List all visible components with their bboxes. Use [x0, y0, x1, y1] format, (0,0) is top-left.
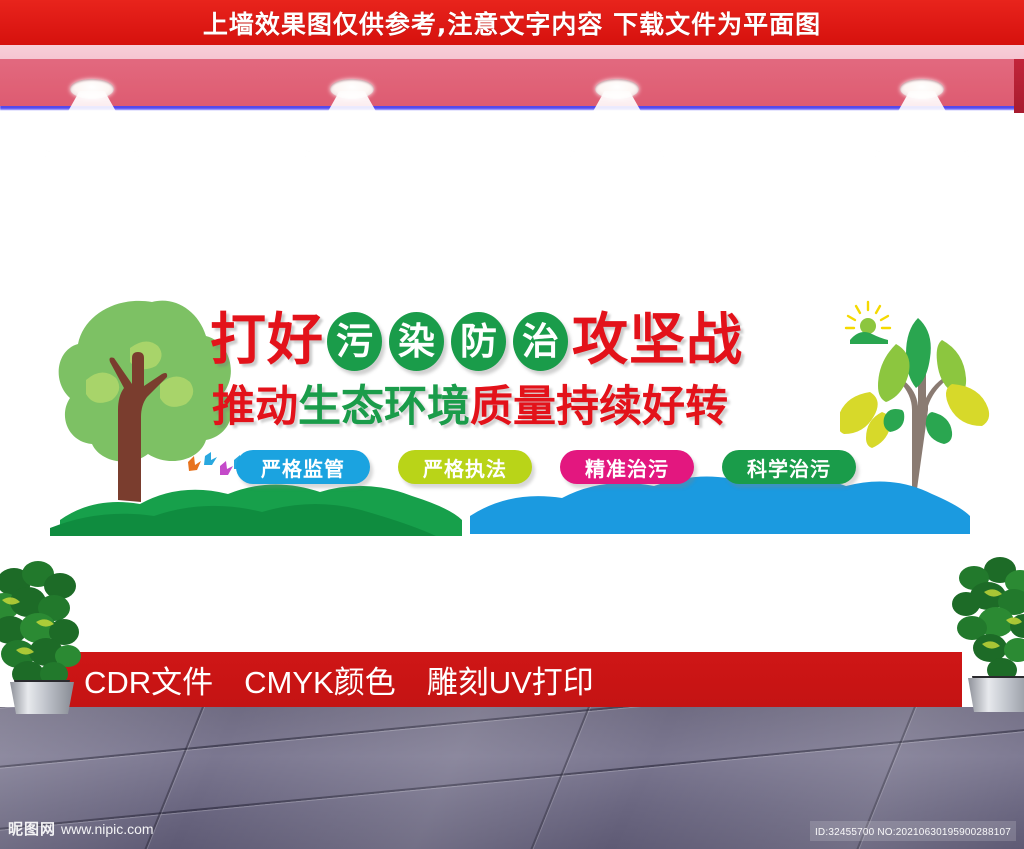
slogan-pill-label-4: 科学治污 — [747, 453, 831, 482]
slogan-pill-row: 严格监管 严格执法 精准治污 科学治污 — [236, 450, 906, 486]
headline-char-3: 攻 — [572, 313, 628, 369]
butterfly-2 — [204, 452, 217, 465]
butterfly-1 — [188, 456, 201, 471]
top-notice-banner: 上墙效果图仅供参考,注意文字内容 下载文件为平面图 — [0, 0, 1024, 45]
slogan-pill-4: 科学治污 — [722, 450, 856, 484]
headline-circle-char-1: 污 — [336, 323, 373, 360]
screenshot-root: 上墙效果图仅供参考,注意文字内容 下载文件为平面图 — [0, 0, 1024, 849]
potted-plant-right — [944, 548, 1024, 716]
headline-circle-4: 治 — [513, 312, 568, 371]
tree-canopy — [59, 301, 232, 462]
headline-char-4: 坚 — [629, 313, 685, 369]
slogan-pill-2: 严格执法 — [398, 450, 532, 484]
potted-plant-left — [0, 556, 94, 716]
headline-char-5: 战 — [686, 313, 742, 369]
slogan-pill-label-2: 严格执法 — [423, 453, 507, 482]
headline-char-1: 打 — [210, 313, 266, 369]
headline-circle-char-4: 治 — [522, 323, 559, 360]
headline-circle-1: 污 — [327, 312, 382, 371]
watermark-left: 昵图网 www.nipic.com — [8, 818, 154, 839]
ceiling-trim — [0, 45, 1024, 59]
subline-segment-1: 推动 — [212, 386, 298, 429]
top-notice-text: 上墙效果图仅供参考,注意文字内容 下载文件为平面图 — [203, 5, 821, 41]
ceiling-panel — [0, 59, 1024, 106]
plant-pot-left — [10, 682, 74, 714]
slogan-pill-label-3: 精准治污 — [585, 453, 669, 482]
bottom-spec-banner: CDR文件 CMYK颜色 雕刻UV打印 — [62, 652, 962, 707]
bottom-spec-text: CDR文件 CMYK颜色 雕刻UV打印 — [84, 657, 594, 702]
headline-char-2: 好 — [267, 313, 323, 369]
headline-circle-char-2: 染 — [398, 323, 435, 360]
butterfly-3 — [220, 461, 233, 475]
sapling-leaf-inner-right — [926, 412, 952, 444]
subline-row: 推动 生态环境 质量持续好转 — [212, 382, 912, 432]
headline-circle-2: 染 — [389, 312, 444, 371]
headline-row: 打 好 污 染 防 治 攻 坚 战 — [210, 302, 910, 380]
watermark-logo: 昵图网 — [8, 818, 56, 839]
subline-segment-3: 质量持续好转 — [470, 386, 728, 429]
plant-foliage-left — [0, 561, 81, 687]
sapling-leaf-right — [946, 384, 989, 426]
wall-art-graphic: 打 好 污 染 防 治 攻 坚 战 推动 生态环境 质量持续好转 — [40, 280, 1000, 540]
headline-circle-char-3: 防 — [460, 323, 497, 360]
watermark-id-badge: ID:32455700 NO:20210630195900288107 — [810, 821, 1016, 841]
ceiling-right-edge — [1014, 59, 1024, 113]
plant-pot-right — [968, 678, 1024, 712]
slogan-pill-3: 精准治污 — [560, 450, 694, 484]
subline-segment-2: 生态环境 — [298, 386, 470, 429]
slogan-pill-1: 严格监管 — [236, 450, 370, 484]
slogan-pill-label-1: 严格监管 — [261, 453, 345, 482]
watermark-url: www.nipic.com — [61, 821, 154, 837]
plant-foliage-right — [952, 557, 1024, 682]
watermark-id-text: ID:32455700 NO:20210630195900288107 — [815, 827, 1011, 838]
headline-circle-3: 防 — [451, 312, 506, 371]
